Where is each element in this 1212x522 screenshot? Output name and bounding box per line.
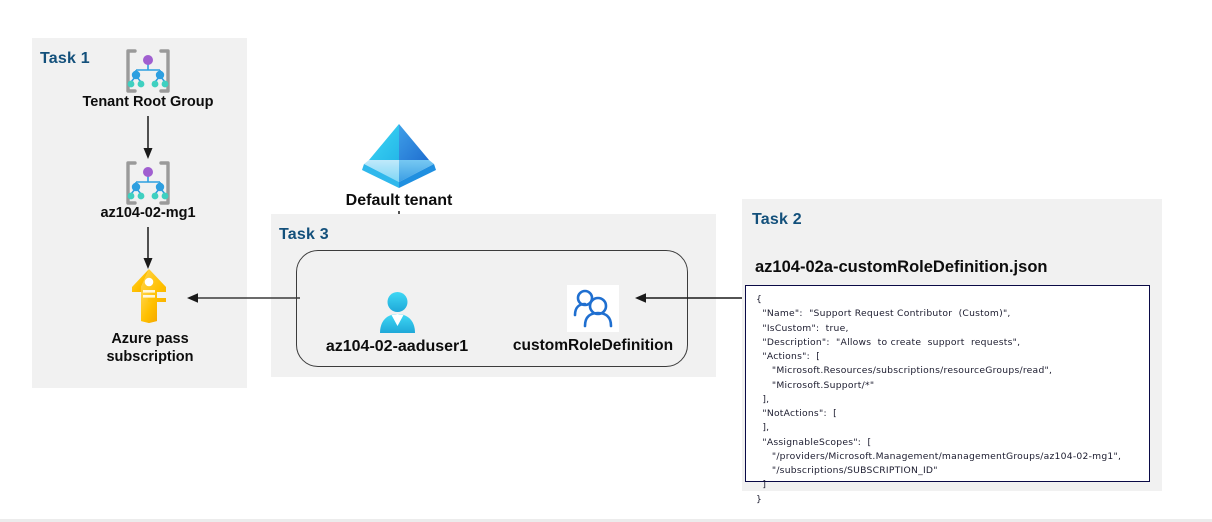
arrow-task3-to-subscription <box>186 288 302 308</box>
arrow-tenant-root-to-mg <box>137 116 159 160</box>
subscription-label-line1: Azure passsubscription <box>106 331 193 365</box>
arrow-json-to-customroledefinition <box>634 288 744 308</box>
arrow-mg-to-subscription <box>137 227 159 270</box>
users-group-icon <box>567 285 619 332</box>
tenant-root-group-label: Tenant Root Group <box>48 93 248 111</box>
custom-role-definition-json[interactable]: { "Name": "Support Request Contributor (… <box>745 285 1150 482</box>
tenant-label: Default tenant <box>299 191 499 211</box>
subscription-label: Azure passsubscription <box>55 330 245 366</box>
user-icon <box>375 290 420 334</box>
aad-user-label: az104-02-aaduser1 <box>297 337 497 357</box>
azure-ad-tenant-icon <box>360 120 438 192</box>
task2-label: Task 2 <box>752 211 802 229</box>
key-icon <box>128 268 170 324</box>
management-group-label: az104-02-mg1 <box>48 204 248 222</box>
management-group-icon <box>122 159 174 207</box>
task3-label: Task 3 <box>279 226 329 244</box>
task1-label: Task 1 <box>40 50 90 68</box>
management-group-icon <box>122 47 174 95</box>
custom-role-definition-label: customRoleDefinition <box>493 336 693 355</box>
task2-filename: az104-02a-customRoleDefinition.json <box>755 258 1047 277</box>
